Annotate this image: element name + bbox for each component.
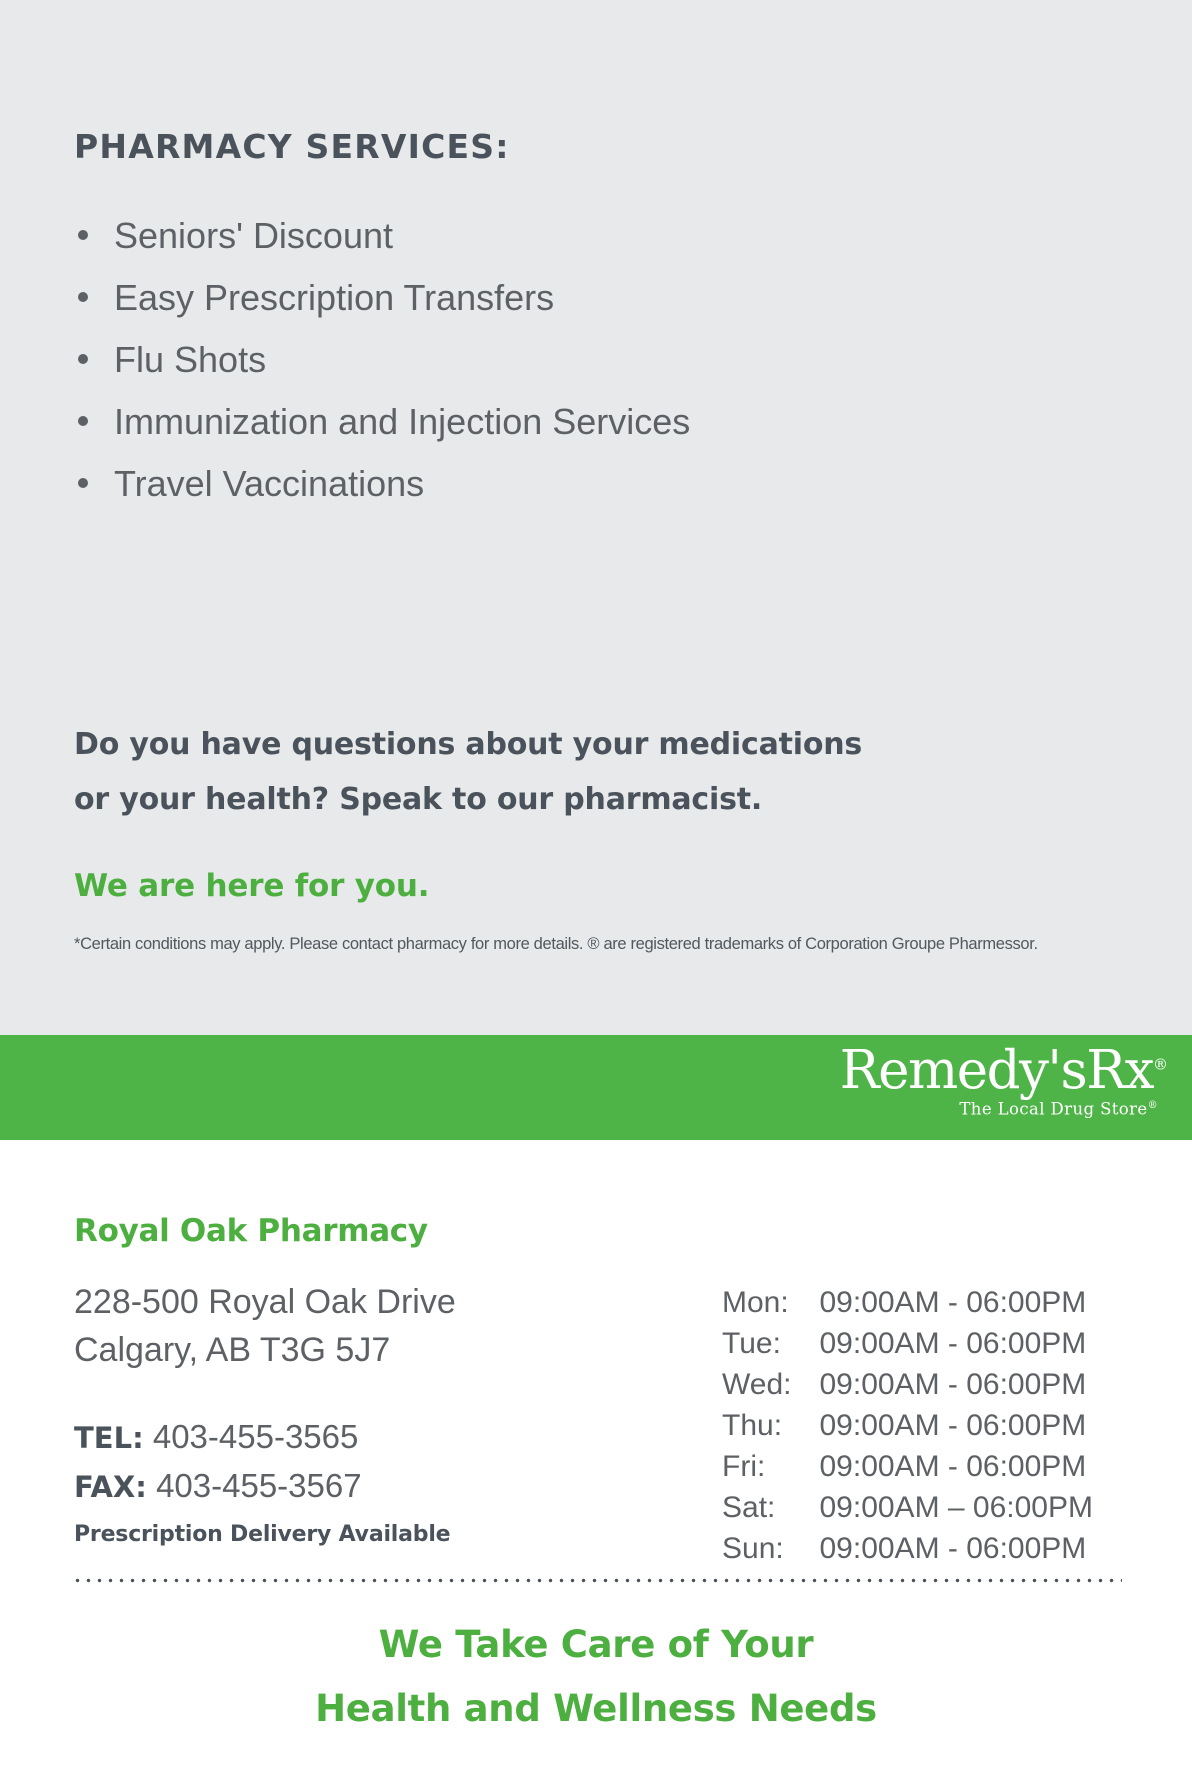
table-row: Tue: 09:00AM - 06:00PM	[722, 1323, 1093, 1364]
service-label: Easy Prescription Transfers	[114, 267, 554, 329]
page-title: PHARMACY SERVICES:	[74, 127, 510, 166]
logo-wordmark: Remedy'sRx®	[840, 1044, 1168, 1097]
store-hours-table: Mon: 09:00AM - 06:00PM Tue: 09:00AM - 06…	[722, 1282, 1093, 1569]
logo-tagline: The Local Drug Store®	[840, 1101, 1158, 1118]
pharmacist-question: Do you have questions about your medicat…	[74, 717, 862, 827]
store-contact: TEL: 403-455-3565 FAX: 403-455-3567	[74, 1413, 362, 1511]
hours-time: 09:00AM - 06:00PM	[819, 1323, 1093, 1364]
hours-day: Mon:	[722, 1282, 819, 1323]
list-item: Easy Prescription Transfers	[78, 267, 690, 329]
hours-day: Wed:	[722, 1364, 819, 1405]
closing-line-1: We Take Care of Your	[0, 1613, 1192, 1677]
service-label: Immunization and Injection Services	[114, 391, 690, 453]
registered-trademark-icon: ®	[1153, 1055, 1168, 1073]
table-row: Sun: 09:00AM - 06:00PM	[722, 1528, 1093, 1569]
services-panel: PHARMACY SERVICES: Seniors' Discount Eas…	[0, 0, 1192, 1035]
hours-time: 09:00AM – 06:00PM	[819, 1487, 1093, 1528]
table-row: Fri: 09:00AM - 06:00PM	[722, 1446, 1093, 1487]
service-label: Travel Vaccinations	[114, 453, 424, 515]
list-item: Flu Shots	[78, 329, 690, 391]
table-row: Mon: 09:00AM - 06:00PM	[722, 1282, 1093, 1323]
table-row: Wed: 09:00AM - 06:00PM	[722, 1364, 1093, 1405]
closing-tagline: We Take Care of Your Health and Wellness…	[0, 1613, 1192, 1741]
bullet-icon	[78, 416, 88, 426]
hours-day: Fri:	[722, 1446, 819, 1487]
disclaimer-text: *Certain conditions may apply. Please co…	[74, 930, 1074, 959]
bullet-icon	[78, 230, 88, 240]
here-for-you-tagline: We are here for you.	[74, 868, 429, 904]
telephone-row: TEL: 403-455-3565	[74, 1413, 362, 1462]
logo-wordmark-text: Remedy'sRx	[840, 1040, 1153, 1101]
address-line-1: 228-500 Royal Oak Drive	[74, 1278, 456, 1326]
address-line-2: Calgary, AB T3G 5J7	[74, 1326, 456, 1374]
hours-day: Thu:	[722, 1405, 819, 1446]
hours-time: 09:00AM - 06:00PM	[819, 1446, 1093, 1487]
list-item: Seniors' Discount	[78, 205, 690, 267]
telephone-label: TEL:	[74, 1421, 144, 1455]
hours-time: 09:00AM - 06:00PM	[819, 1282, 1093, 1323]
store-address: 228-500 Royal Oak Drive Calgary, AB T3G …	[74, 1278, 456, 1374]
disclaimer-line-2: Corporation Groupe Pharmessor.	[805, 935, 1038, 953]
list-item: Immunization and Injection Services	[78, 391, 690, 453]
telephone-value[interactable]: 403-455-3565	[153, 1418, 359, 1455]
hours-time: 09:00AM - 06:00PM	[819, 1405, 1093, 1446]
hours-day: Tue:	[722, 1323, 819, 1364]
hours-day: Sun:	[722, 1528, 819, 1569]
logo-tagline-text: The Local Drug Store	[959, 1100, 1147, 1119]
fax-row: FAX: 403-455-3567	[74, 1462, 362, 1511]
services-list: Seniors' Discount Easy Prescription Tran…	[78, 205, 690, 515]
delivery-note: Prescription Delivery Available	[74, 1522, 450, 1547]
fax-label: FAX:	[74, 1470, 147, 1504]
closing-line-2: Health and Wellness Needs	[0, 1677, 1192, 1741]
service-label: Seniors' Discount	[114, 205, 393, 267]
bullet-icon	[78, 354, 88, 364]
bullet-icon	[78, 292, 88, 302]
dotted-divider	[72, 1578, 1122, 1583]
trademark-icon: ®	[1148, 1100, 1158, 1111]
question-line-1: Do you have questions about your medicat…	[74, 717, 862, 772]
bullet-icon	[78, 478, 88, 488]
list-item: Travel Vaccinations	[78, 453, 690, 515]
hours-time: 09:00AM - 06:00PM	[819, 1528, 1093, 1569]
hours-time: 09:00AM - 06:00PM	[819, 1364, 1093, 1405]
remedysrx-logo: Remedy'sRx® The Local Drug Store®	[840, 1044, 1168, 1118]
table-row: Thu: 09:00AM - 06:00PM	[722, 1405, 1093, 1446]
hours-day: Sat:	[722, 1487, 819, 1528]
table-row: Sat: 09:00AM – 06:00PM	[722, 1487, 1093, 1528]
fax-value: 403-455-3567	[156, 1467, 362, 1504]
store-name: Royal Oak Pharmacy	[74, 1213, 428, 1249]
question-line-2: or your health? Speak to our pharmacist.	[74, 772, 862, 827]
service-label: Flu Shots	[114, 329, 266, 391]
disclaimer-line-1: *Certain conditions may apply. Please co…	[74, 935, 801, 953]
